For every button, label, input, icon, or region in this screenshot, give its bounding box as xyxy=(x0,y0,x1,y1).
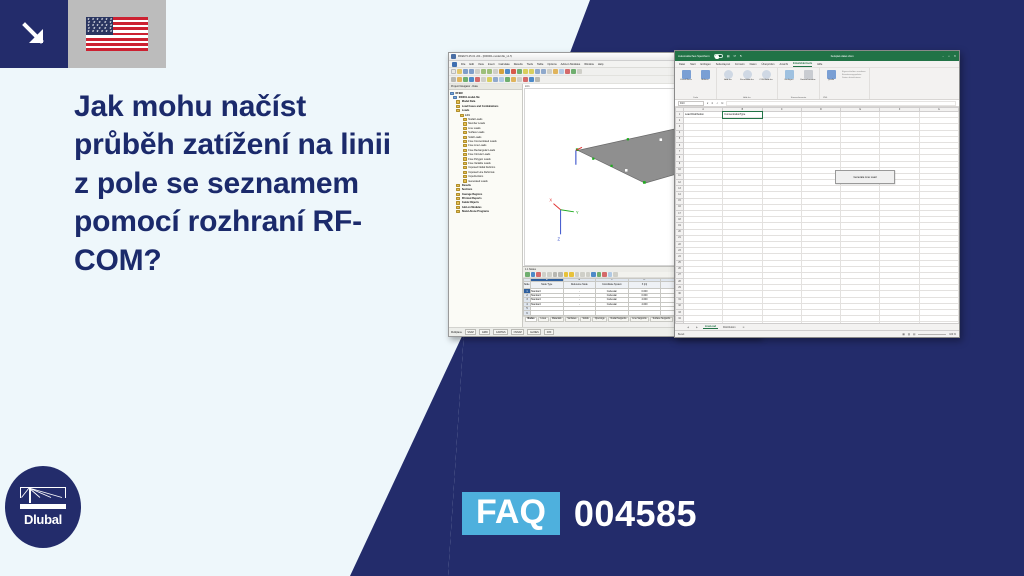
confirm-icon[interactable]: ✓ xyxy=(716,102,718,105)
folder-icon xyxy=(456,109,460,112)
page-layout-icon[interactable]: ▥ xyxy=(908,333,910,336)
dimension-icon[interactable] xyxy=(517,77,522,82)
chevron-down-icon[interactable]: ▾ xyxy=(707,102,708,105)
slide-canvas: ★★★★★★ ★★★★★ ★★★★★★ ★★★★★ ★★★★★★ Jak moh… xyxy=(0,0,1024,576)
project-navigator[interactable]: Project Navigator - Data RFEM000001-mode… xyxy=(449,84,523,327)
folder-icon xyxy=(463,144,467,147)
table-misc-icon[interactable] xyxy=(613,272,618,277)
copy-icon[interactable] xyxy=(487,69,492,74)
column-header: Node No. xyxy=(524,282,531,289)
menu-help[interactable]: Help xyxy=(598,63,604,66)
tree-item-label: Add-on Modules xyxy=(462,206,482,209)
page-break-icon[interactable]: ▤ xyxy=(913,333,915,336)
function-icon[interactable]: fx xyxy=(721,102,723,105)
table-highlight-icon[interactable] xyxy=(564,272,569,277)
xml-source-button[interactable]: Quelle xyxy=(823,70,839,82)
ribbon-tab[interactable]: Hilfe xyxy=(817,63,822,67)
insert-control-button[interactable]: Einfügen xyxy=(781,70,797,82)
delete-icon[interactable] xyxy=(511,69,516,74)
status-snap[interactable]: SNAP xyxy=(465,329,477,335)
minimize-icon[interactable]: – xyxy=(942,54,944,58)
arrow-down-right-icon xyxy=(0,0,68,68)
open-icon[interactable] xyxy=(457,69,462,74)
folder-icon xyxy=(463,171,467,174)
quick-save-icon[interactable]: ▤ xyxy=(727,54,730,58)
tree-item-label: Load Cases and Combinations xyxy=(462,105,499,108)
redo-icon[interactable]: ↻ xyxy=(740,54,742,58)
usa-flag-icon: ★★★★★★ ★★★★★ ★★★★★★ ★★★★★ ★★★★★★ xyxy=(68,0,166,68)
normal-view-icon[interactable]: ▦ xyxy=(902,333,904,336)
sheet-nav-icon[interactable]: ◀ xyxy=(685,326,691,329)
tree-item[interactable]: Stand-Alone Programs xyxy=(450,210,522,214)
table-tab[interactable]: Openings xyxy=(592,317,607,322)
screenshot-composite: RFEM 5.25.01 x64 - [000001-model-file_v1… xyxy=(448,50,960,338)
redo-icon[interactable] xyxy=(505,69,510,74)
menu-tools[interactable]: Tools xyxy=(527,63,533,66)
macros-button[interactable]: Makros xyxy=(697,70,713,82)
select-icon[interactable] xyxy=(559,69,564,74)
navigator-tree[interactable]: RFEM000001-model-fileModel DataLoad Case… xyxy=(449,90,522,327)
more-icon[interactable] xyxy=(577,69,582,74)
member-icon[interactable] xyxy=(571,69,576,74)
sheet-nav-icon[interactable]: ▶ xyxy=(694,326,700,329)
ribbon-group-controls: Einfügen Entwurfsmodus Steuerelemente xyxy=(778,68,820,99)
opening-icon[interactable] xyxy=(481,77,486,82)
folder-icon xyxy=(463,136,467,139)
grid-icon[interactable] xyxy=(547,69,552,74)
excel-file-name: beispiel-datei.xlsm xyxy=(831,54,854,58)
menu-insert[interactable]: Insert xyxy=(488,63,495,66)
sheet-tab[interactable]: Distribution xyxy=(721,326,738,329)
hinge-icon[interactable] xyxy=(499,77,504,82)
zoom-icon[interactable] xyxy=(541,69,546,74)
tree-item-label: Surface Loads xyxy=(468,131,484,134)
table-refresh-icon[interactable] xyxy=(575,272,580,277)
excel-statusbar: Bereit ▦ ▥ ▤ 100 % xyxy=(675,330,959,337)
ribbon-tab[interactable]: Formeln xyxy=(735,63,745,67)
zoom-slider[interactable] xyxy=(918,334,946,335)
ribbon-tab[interactable]: Datei xyxy=(679,63,685,67)
table-cell[interactable] xyxy=(563,311,596,315)
ribbon-group-code: Visual Basic Makros Code xyxy=(675,68,717,99)
flag-graphic: ★★★★★★ ★★★★★ ★★★★★★ ★★★★★ ★★★★★★ xyxy=(86,17,148,51)
calculate-icon[interactable] xyxy=(517,69,522,74)
table-new-icon[interactable] xyxy=(525,272,530,277)
status-osnap[interactable]: OSNAP xyxy=(511,329,524,335)
status-cartes[interactable]: CARTES xyxy=(493,329,508,335)
svg-text:Y: Y xyxy=(576,210,579,215)
tree-item-label: RFEM xyxy=(456,92,463,95)
misc-icon[interactable] xyxy=(535,77,540,82)
ribbon-tab[interactable]: Ansicht xyxy=(780,63,789,67)
xml-map-properties[interactable]: Eigenschaften zuordnen xyxy=(842,71,866,73)
shade-icon[interactable] xyxy=(529,69,534,74)
excel-titlebar[interactable]: Automatisches Speichern ▤ ↺ ↻ beispiel-d… xyxy=(675,51,959,61)
table-help-icon[interactable] xyxy=(608,272,613,277)
section-icon[interactable] xyxy=(511,77,516,82)
menu-window[interactable]: Window xyxy=(584,63,594,66)
tree-item-label: Printout Reports xyxy=(462,197,482,200)
table-tab[interactable]: Materials xyxy=(550,317,564,322)
table-nav-prev-icon[interactable] xyxy=(580,272,585,277)
sheet-tab[interactable]: LineLoad xyxy=(703,325,718,329)
status-grid[interactable]: GRID xyxy=(479,329,490,335)
tree-item-label: Average Regions xyxy=(462,193,482,196)
support-icon[interactable] xyxy=(565,69,570,74)
menu-edit[interactable]: Edit xyxy=(469,63,474,66)
table-tab[interactable]: Nodal Supports xyxy=(608,317,629,322)
design-mode-button[interactable]: Entwurfsmodus xyxy=(800,70,816,82)
folder-icon xyxy=(456,197,460,200)
new-icon[interactable] xyxy=(451,69,456,74)
sheet-tab-bar[interactable]: ◀▶LineLoadDistribution⊕ xyxy=(675,323,959,330)
new-sheet-icon[interactable]: ⊕ xyxy=(741,326,747,329)
table-nav-next-icon[interactable] xyxy=(586,272,591,277)
mesh-icon[interactable] xyxy=(505,77,510,82)
tree-item-label: Member Loads xyxy=(468,122,485,125)
tree-item-label: Stand-Alone Programs xyxy=(462,210,489,213)
dlubal-logo: Dlubal xyxy=(5,466,81,548)
ribbon-tab[interactable]: Einfügen xyxy=(701,63,711,67)
svg-text:X: X xyxy=(549,198,552,203)
maximize-icon[interactable]: □ xyxy=(948,54,950,58)
folder-icon xyxy=(463,127,467,130)
result-icon[interactable] xyxy=(523,77,528,82)
zoom-level[interactable]: 100 % xyxy=(949,333,956,336)
folder-icon xyxy=(456,184,460,187)
tree-item-label: Free Concentrated Loads xyxy=(468,140,496,143)
folder-icon xyxy=(456,206,460,209)
node-icon[interactable] xyxy=(457,77,462,82)
excel-ribbon[interactable]: Visual Basic Makros Code Add-Ins xyxy=(675,68,959,100)
folder-icon xyxy=(450,92,454,95)
ribbon-tab[interactable]: Entwicklertools xyxy=(793,62,812,67)
addins-button[interactable]: Add-Ins xyxy=(720,70,736,82)
table-cell[interactable] xyxy=(596,311,629,315)
folder-icon xyxy=(460,114,464,117)
tree-item-label: Free Variable Loads xyxy=(468,162,490,165)
surface-icon[interactable] xyxy=(469,77,474,82)
line-icon[interactable] xyxy=(463,77,468,82)
folder-icon xyxy=(463,153,467,156)
tree-item-label: Free Rectangular Loads xyxy=(468,149,495,152)
ribbon-tab[interactable]: Überprüfen xyxy=(762,63,775,67)
com-addins-button[interactable]: COM-Add-Ins xyxy=(758,70,774,82)
cut-icon[interactable] xyxy=(481,69,486,74)
folder-icon xyxy=(456,105,460,108)
folder-icon xyxy=(463,118,467,121)
folder-icon xyxy=(463,122,467,125)
topbar: ★★★★★★ ★★★★★ ★★★★★★ ★★★★★ ★★★★★★ xyxy=(0,0,166,68)
folder-icon xyxy=(463,166,467,169)
rfem-title-text: RFEM 5.25.01 x64 - [000001-model-file_v1… xyxy=(458,55,512,58)
ribbon-group-addins: Add-Ins Excel-Add-Ins COM-Add-Ins Add-In… xyxy=(717,68,778,99)
dlubal-bridge-icon xyxy=(20,487,66,509)
menu-results[interactable]: Results xyxy=(514,63,523,66)
visual-basic-button[interactable]: Visual Basic xyxy=(678,70,694,82)
close-icon[interactable]: ✕ xyxy=(954,54,956,58)
table-export-icon[interactable] xyxy=(558,272,563,277)
rfem-app-icon xyxy=(451,54,456,59)
tree-item-label: LC1 xyxy=(465,114,470,117)
column-header: Reference Node xyxy=(563,282,596,289)
faq-badge: FAQ xyxy=(462,492,560,535)
tree-item-label: 000001-model-file xyxy=(459,96,480,99)
undo-icon[interactable] xyxy=(499,69,504,74)
column-header: Coordinate System xyxy=(596,282,629,289)
table-tab[interactable]: Lines xyxy=(538,317,549,322)
faq-footer: FAQ 004585 xyxy=(462,492,697,535)
ribbon-tab[interactable]: Daten xyxy=(750,63,757,67)
excel-grid[interactable]: ABCDEFG1Load DistributionConcentrationTy… xyxy=(675,107,959,323)
rfem-menu-icon xyxy=(452,62,457,67)
excel-window[interactable]: Automatisches Speichern ▤ ↺ ↻ beispiel-d… xyxy=(674,50,960,338)
solid-icon[interactable] xyxy=(475,77,480,82)
load-icon[interactable] xyxy=(553,69,558,74)
table-tab[interactable]: Solids xyxy=(580,317,591,322)
table-cell[interactable] xyxy=(531,311,564,315)
folder-icon xyxy=(463,175,467,178)
table-tab[interactable]: Surfaces xyxy=(565,317,579,322)
autosave-toggle[interactable] xyxy=(714,54,723,59)
menu-file[interactable]: File xyxy=(461,63,465,66)
folder-icon xyxy=(453,96,457,99)
formula-bar[interactable]: D10 ▾ ✕ ✓ fx xyxy=(675,100,959,107)
tree-item-label: Nodal Loads xyxy=(468,118,482,121)
deformation-icon[interactable] xyxy=(529,77,534,82)
autosave-label: Automatisches Speichern xyxy=(678,54,710,58)
tree-item-label: Free Polygon Loads xyxy=(468,158,490,161)
tree-item-label: Free Circular Loads xyxy=(468,153,490,156)
tree-item-label: Imposed Line Deformat. xyxy=(468,171,495,174)
menu-addon-modules[interactable]: Add-on Modules xyxy=(561,63,581,66)
folder-icon xyxy=(456,201,460,204)
column-header: Node Type xyxy=(531,282,564,289)
ribbon-group-xml: Quelle Eigenschaften zuordnen Erweiterun… xyxy=(820,68,870,99)
tree-item-label: Free Line Loads xyxy=(468,144,486,147)
folder-icon xyxy=(463,149,467,152)
worksheet-table[interactable]: ABCDEFG1Load DistributionConcentrationTy… xyxy=(675,107,959,323)
tree-item-label: Model Data xyxy=(462,100,475,103)
pointer-icon[interactable] xyxy=(451,77,456,82)
tree-item-label: Solid Loads xyxy=(468,136,481,139)
folder-icon xyxy=(456,100,460,103)
undo-icon[interactable]: ↺ xyxy=(733,54,735,58)
excel-addins-button[interactable]: Excel-Add-Ins xyxy=(739,70,755,82)
tree-item-label: Imperfections xyxy=(468,175,483,178)
folder-icon xyxy=(463,140,467,143)
view-icon[interactable] xyxy=(535,69,540,74)
column-header: X [m] xyxy=(628,282,661,289)
status-dxf[interactable]: DXF xyxy=(544,329,554,335)
ribbon-tab[interactable]: Seitenlayout xyxy=(716,63,730,67)
tree-item-label: Generated Loads xyxy=(468,180,487,183)
faq-number: 004585 xyxy=(574,493,697,535)
menu-options[interactable]: Options xyxy=(547,63,556,66)
excel-ribbon-tabs[interactable]: DateiStartEinfügenSeitenlayoutFormelnDat… xyxy=(675,61,959,68)
cancel-icon[interactable]: ✕ xyxy=(711,102,713,105)
folder-icon xyxy=(456,193,460,196)
status-left: Multiplane xyxy=(451,331,462,334)
group-label-code: Code xyxy=(693,97,698,99)
table-sort-icon[interactable] xyxy=(547,272,552,277)
name-box[interactable]: D10 xyxy=(678,101,704,106)
table-delete-icon[interactable] xyxy=(536,272,541,277)
table-edit-icon[interactable] xyxy=(531,272,536,277)
save-icon[interactable] xyxy=(463,69,468,74)
xml-expansion-packs[interactable]: Erweiterungspakete xyxy=(842,74,866,76)
nodal-support-icon[interactable] xyxy=(487,77,492,82)
menu-view[interactable]: View xyxy=(478,63,484,66)
folder-icon xyxy=(463,179,467,182)
generate-line-load-button[interactable]: Generate Line Load xyxy=(835,170,895,184)
tree-item-label: Sections xyxy=(462,188,472,191)
excel-status-left: Bereit xyxy=(678,333,684,336)
dlubal-wordmark: Dlubal xyxy=(24,512,62,527)
render-icon[interactable] xyxy=(523,69,528,74)
folder-icon xyxy=(463,162,467,165)
tree-item-label: Loads xyxy=(462,109,469,112)
svg-text:Z: Z xyxy=(558,236,561,241)
folder-icon xyxy=(456,188,460,191)
table-warn-icon[interactable] xyxy=(569,272,574,277)
xml-refresh-data[interactable]: Daten aktualisieren xyxy=(842,77,866,79)
preview-icon[interactable] xyxy=(475,69,480,74)
print-icon[interactable] xyxy=(469,69,474,74)
folder-icon xyxy=(463,157,467,160)
table-import-icon[interactable] xyxy=(553,272,558,277)
table-filter-icon[interactable] xyxy=(542,272,547,277)
group-label-xml: XML xyxy=(823,97,828,99)
table-units-icon[interactable] xyxy=(597,272,602,277)
table-tab[interactable]: Nodes xyxy=(525,317,537,322)
table-tab[interactable]: Surface Supports xyxy=(650,317,673,322)
table-cell[interactable] xyxy=(628,311,661,315)
table-print-icon[interactable] xyxy=(602,272,607,277)
page-title: Jak mohu načíst průběh zatížení na linii… xyxy=(74,88,404,280)
table-tab[interactable]: Line Supports xyxy=(630,317,649,322)
tree-item-label: Line Loads xyxy=(468,127,480,130)
folder-icon xyxy=(456,210,460,213)
paste-icon[interactable] xyxy=(493,69,498,74)
line-support-icon[interactable] xyxy=(493,77,498,82)
tree-item-label: Imposed Nodal Deforms xyxy=(468,166,495,169)
tree-item-label: Guide Objects xyxy=(462,201,479,204)
menu-calculate[interactable]: Calculate xyxy=(499,63,510,66)
status-glines[interactable]: GLINES xyxy=(527,329,541,335)
menu-table[interactable]: Table xyxy=(537,63,543,66)
formula-input[interactable] xyxy=(726,101,956,106)
ribbon-tab[interactable]: Start xyxy=(690,63,695,67)
tree-item-label: Results xyxy=(462,184,471,187)
folder-icon xyxy=(463,131,467,134)
group-label-addins: Add-Ins xyxy=(743,97,751,99)
row-number[interactable]: 6 xyxy=(524,311,531,315)
table-settings-icon[interactable] xyxy=(591,272,596,277)
group-label-controls: Steuerelemente xyxy=(791,97,806,99)
